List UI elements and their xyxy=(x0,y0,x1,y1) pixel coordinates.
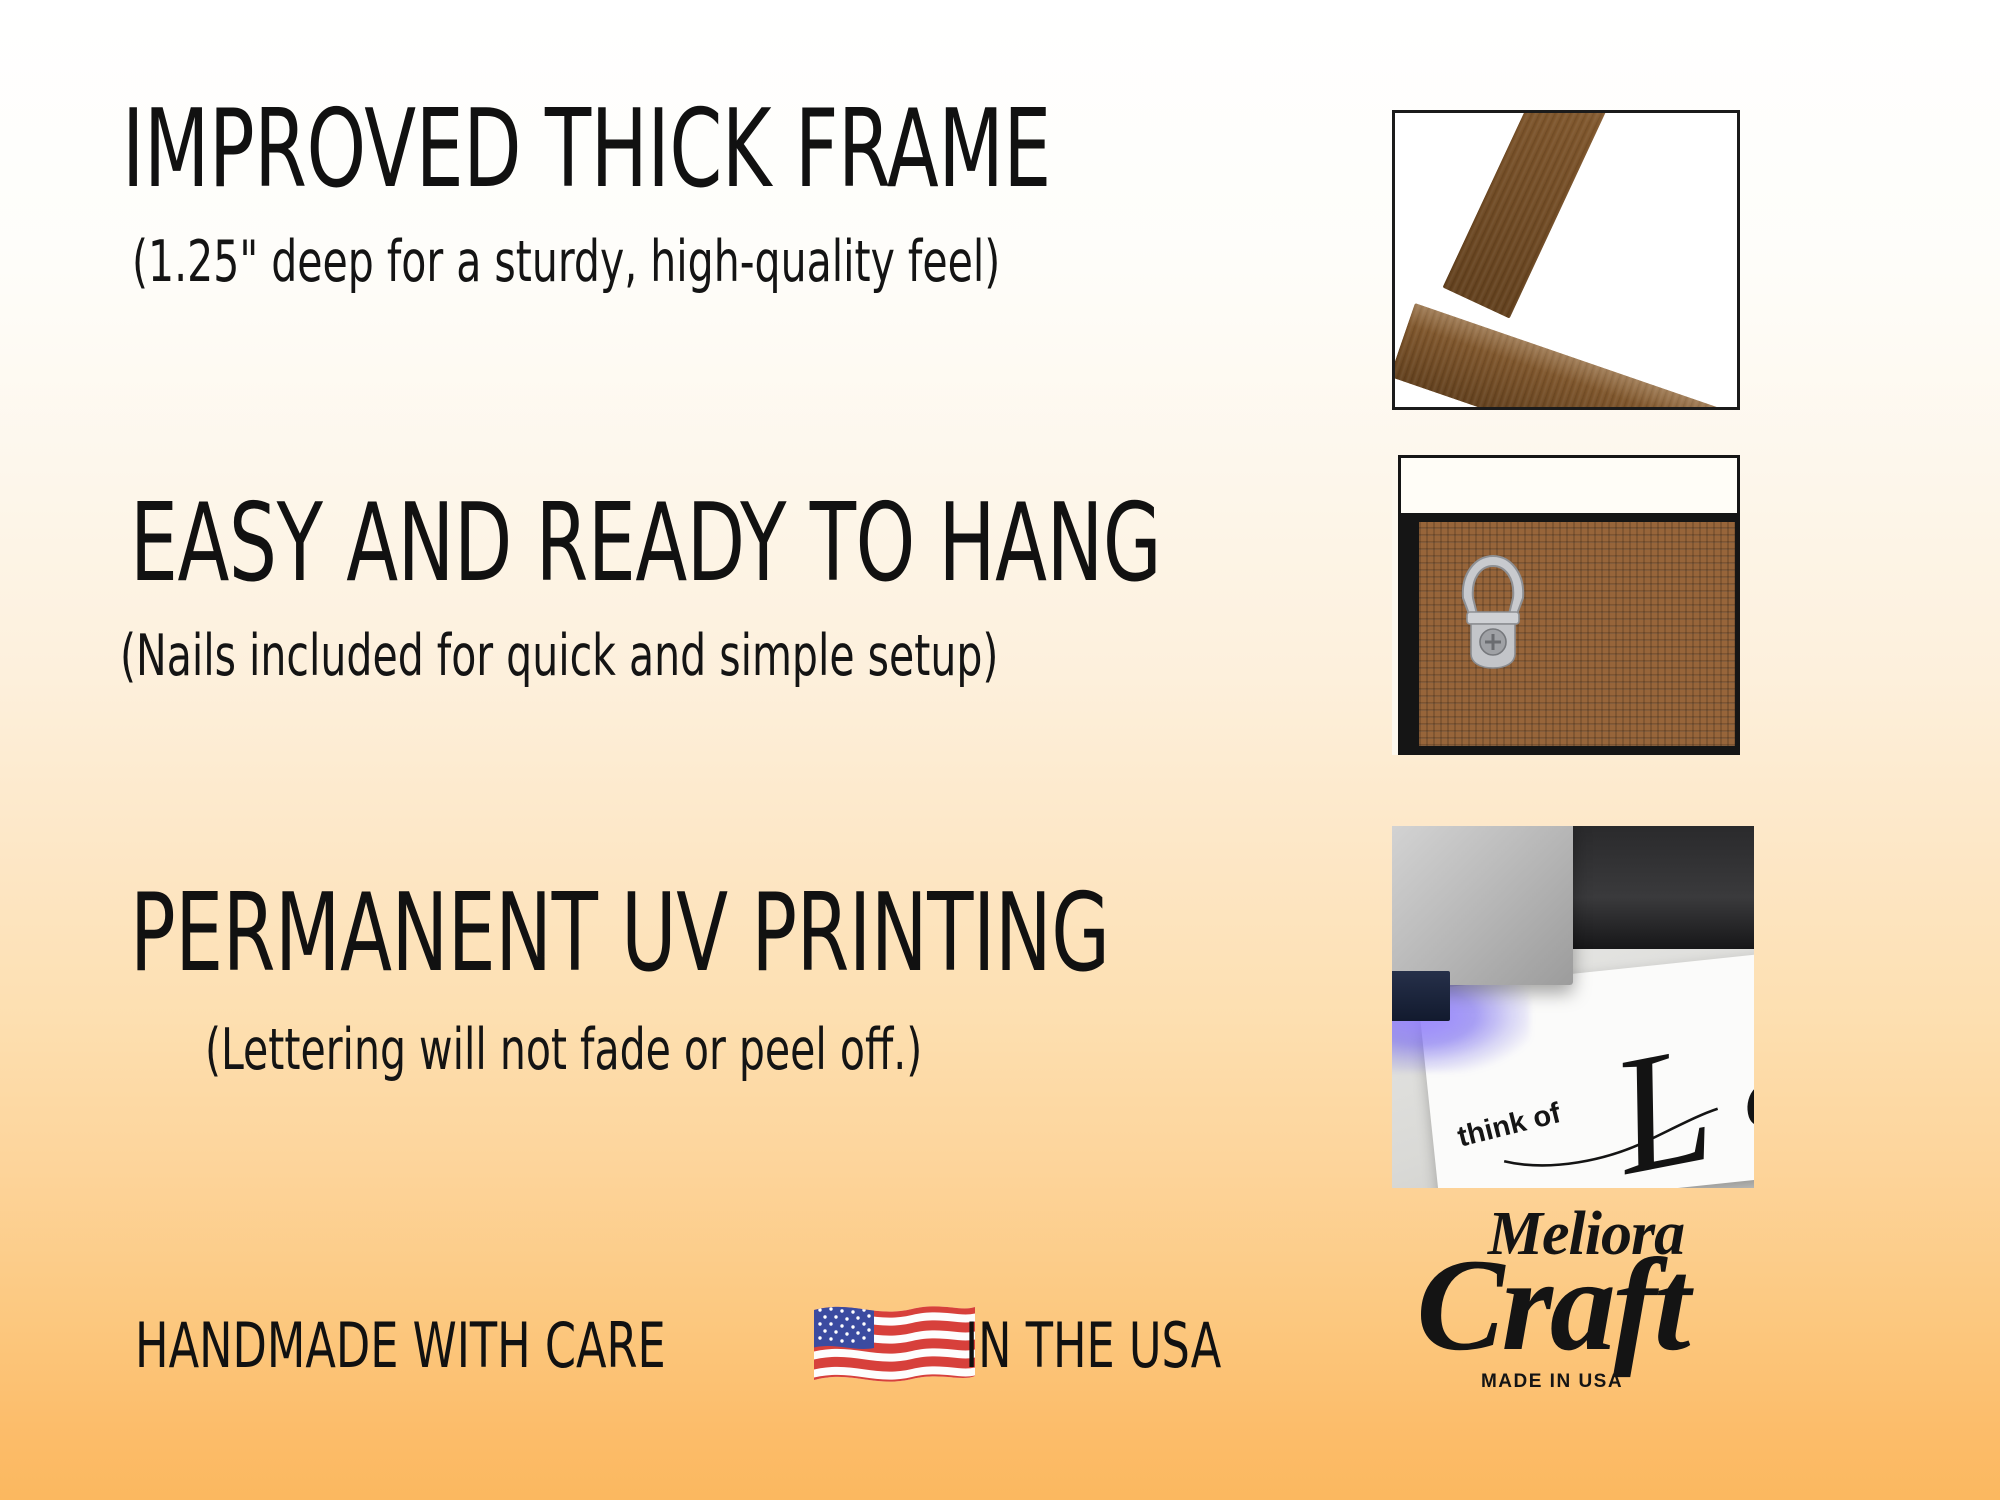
feature-subline: (Lettering will not fade or peel off.) xyxy=(205,1022,1113,1079)
feature-headline: EASY AND READY TO HANG xyxy=(130,490,1074,598)
d-ring-hanger-icon xyxy=(1451,550,1535,680)
us-flag-icon xyxy=(812,1298,977,1392)
burlap-backing xyxy=(1419,522,1735,746)
brand-logo: Meliora Craft MADE IN USA xyxy=(1372,1205,1732,1450)
feature-subline: (Nails included for quick and simple set… xyxy=(120,628,1096,685)
handmade-usa-suffix: IN THE USA xyxy=(965,1309,1221,1382)
uv-print-head-nozzle xyxy=(1392,971,1450,1022)
feature-block-hang: EASY AND READY TO HANG (Nails included f… xyxy=(0,490,1340,685)
handmade-usa-line: HANDMADE WITH CARE xyxy=(0,1290,1340,1400)
frame-back-board xyxy=(1398,513,1740,755)
feature-subline: (1.25" deep for a sturdy, high-quality f… xyxy=(132,234,1098,291)
uv-print-head xyxy=(1392,826,1573,985)
frame-back-top-edge xyxy=(1398,455,1740,513)
feature-block-uv: PERMANENT UV PRINTING (Lettering will no… xyxy=(0,880,1340,1079)
feature-headline: IMPROVED THICK FRAME xyxy=(122,96,1072,204)
infographic-canvas: IMPROVED THICK FRAME (1.25" deep for a s… xyxy=(0,0,2000,1500)
hanging-hardware-photo xyxy=(1392,455,1740,755)
frame-wood-vertical xyxy=(1442,110,1636,319)
wood-highlight xyxy=(1407,303,1740,410)
handmade-usa-prefix: HANDMADE WITH CARE xyxy=(135,1309,666,1382)
feature-headline: PERMANENT UV PRINTING xyxy=(130,880,1074,988)
frame-wood-horizontal xyxy=(1392,303,1740,410)
feature-block-frame: IMPROVED THICK FRAME (1.25" deep for a s… xyxy=(0,96,1340,291)
uv-printing-photo: think of L a xyxy=(1392,826,1754,1188)
logo-brand-bottom: Craft xyxy=(1372,1242,1732,1367)
feature-text-column: IMPROVED THICK FRAME (1.25" deep for a s… xyxy=(0,0,1340,1500)
wood-highlight xyxy=(1531,110,1636,128)
frame-corner-photo xyxy=(1392,110,1740,410)
